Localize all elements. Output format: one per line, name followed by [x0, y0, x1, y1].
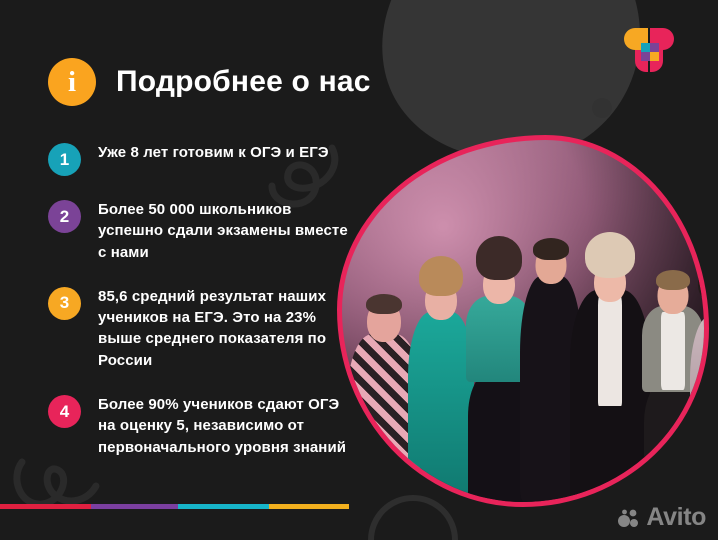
list-item-number: 4: [48, 395, 81, 428]
decorative-dot: [592, 98, 612, 118]
list-item-text: Более 50 000 школьников успешно сдали эк…: [98, 199, 360, 263]
info-icon: i: [48, 58, 96, 106]
color-bar-segment: [178, 504, 269, 509]
group-photo-image: [337, 135, 709, 507]
accent-color-bar: [0, 504, 349, 509]
list-item-number: 3: [48, 287, 81, 320]
list-item-number: 2: [48, 200, 81, 233]
list-item: 3 85,6 средний результат наших учеников …: [48, 286, 360, 371]
feature-list: 1 Уже 8 лет готовим к ОГЭ и ЕГЭ 2 Более …: [48, 142, 360, 481]
group-photo: [337, 135, 709, 507]
list-item: 4 Более 90% учеников сдают ОГЭ на оценку…: [48, 394, 360, 458]
list-item-text: Более 90% учеников сдают ОГЭ на оценку 5…: [98, 394, 360, 458]
avito-watermark: Avito: [618, 503, 706, 532]
header: i Подробнее о нас: [48, 58, 371, 106]
page-title: Подробнее о нас: [116, 65, 371, 99]
list-item-number: 1: [48, 143, 81, 176]
color-bar-segment: [91, 504, 178, 509]
list-item: 1 Уже 8 лет готовим к ОГЭ и ЕГЭ: [48, 142, 360, 176]
color-bar-segment: [269, 504, 349, 509]
slide-root: i Подробнее о нас 1 Уже 8 лет готовим к …: [0, 0, 718, 540]
brand-logo-icon: [623, 28, 677, 72]
color-bar-segment: [0, 504, 91, 509]
list-item: 2 Более 50 000 школьников успешно сдали …: [48, 199, 360, 263]
avito-dots-icon: [618, 508, 640, 528]
list-item-text: 85,6 средний результат наших учеников на…: [98, 286, 360, 371]
list-item-text: Уже 8 лет готовим к ОГЭ и ЕГЭ: [98, 142, 329, 163]
avito-watermark-text: Avito: [646, 503, 706, 532]
